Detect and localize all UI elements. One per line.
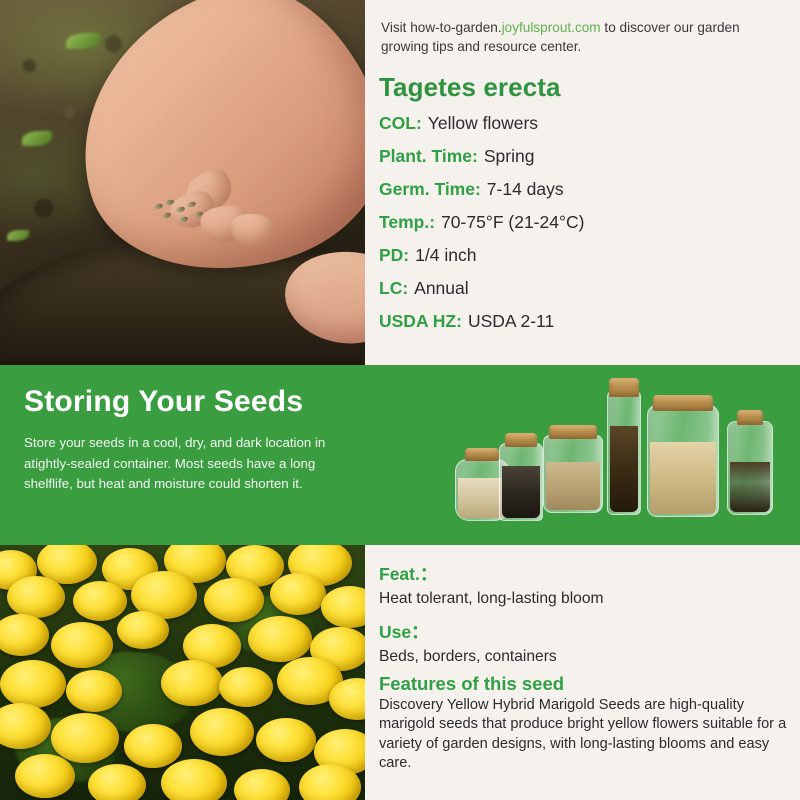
jar-2	[499, 429, 543, 521]
spec-value: 70-75°F (21-24°C)	[441, 212, 584, 233]
spec-key: COL:	[379, 113, 422, 134]
spec-value: Spring	[484, 146, 535, 167]
top-section: Visit how-to-garden.joyfulsprout.com to …	[0, 0, 800, 365]
spec-key: PD:	[379, 245, 409, 266]
features-body: Discovery Yellow Hybrid Marigold Seeds a…	[379, 696, 794, 774]
scientific-name-heading: Tagetes erecta	[379, 72, 561, 103]
spec-value: 7-14 days	[487, 179, 564, 200]
spec-key: USDA HZ:	[379, 311, 462, 332]
seed-packet-infographic: Visit how-to-garden.joyfulsprout.com to …	[0, 0, 800, 800]
features-heading: Features of this seed	[379, 673, 794, 695]
features-block: Features of this seed Discovery Yellow H…	[379, 673, 794, 774]
visit-website-line: Visit how-to-garden.joyfulsprout.com to …	[381, 18, 785, 57]
use-block: Use： Beds, borders, containers	[379, 619, 794, 667]
use-label: Use：	[379, 619, 794, 644]
spec-row-pd: PD: 1/4 inch	[379, 245, 799, 278]
storing-seeds-band: Storing Your Seeds Store your seeds in a…	[0, 365, 800, 545]
jar-6	[727, 405, 773, 515]
use-value: Beds, borders, containers	[379, 646, 794, 667]
jar-4	[607, 375, 641, 515]
spec-key: Germ. Time:	[379, 179, 481, 200]
spec-value: Annual	[414, 278, 469, 299]
seed-details-pane: Feat.： Heat tolerant, long-lasting bloom…	[365, 545, 800, 800]
jar-5	[647, 387, 719, 517]
hand-sowing-seeds-image	[0, 0, 365, 365]
feat-label: Feat.：	[379, 561, 794, 586]
spec-value: Yellow flowers	[428, 113, 538, 134]
spec-row-germ-time: Germ. Time: 7-14 days	[379, 179, 799, 212]
spec-key: LC:	[379, 278, 408, 299]
spec-key: Plant. Time:	[379, 146, 478, 167]
feature-block: Feat.： Heat tolerant, long-lasting bloom	[379, 561, 794, 609]
storing-seeds-body: Store your seeds in a cool, dry, and dar…	[24, 433, 354, 495]
plant-spec-list: COL: Yellow flowers Plant. Time: Spring …	[379, 113, 799, 344]
spec-value: USDA 2-11	[468, 311, 554, 332]
seeds-in-palm	[152, 198, 218, 232]
plant-info-pane: Visit how-to-garden.joyfulsprout.com to …	[365, 0, 800, 365]
seed-storage-jars-image	[455, 371, 795, 539]
storing-seeds-title: Storing Your Seeds	[24, 385, 303, 419]
spec-row-col: COL: Yellow flowers	[379, 113, 799, 146]
jar-3	[543, 419, 603, 513]
joyfulsprout-link[interactable]: joyfulsprout.com	[502, 20, 601, 35]
spec-value: 1/4 inch	[415, 245, 476, 266]
feat-value: Heat tolerant, long-lasting bloom	[379, 588, 794, 609]
spec-key: Temp.:	[379, 212, 435, 233]
spec-row-usda-hz: USDA HZ: USDA 2-11	[379, 311, 799, 344]
visit-text-prefix: Visit how-to-garden.	[381, 20, 502, 35]
bottom-section: Feat.： Heat tolerant, long-lasting bloom…	[0, 545, 800, 800]
spec-row-lc: LC: Annual	[379, 278, 799, 311]
spec-row-temp: Temp.: 70-75°F (21-24°C)	[379, 212, 799, 245]
marigold-field-image	[0, 545, 365, 800]
spec-row-plant-time: Plant. Time: Spring	[379, 146, 799, 179]
